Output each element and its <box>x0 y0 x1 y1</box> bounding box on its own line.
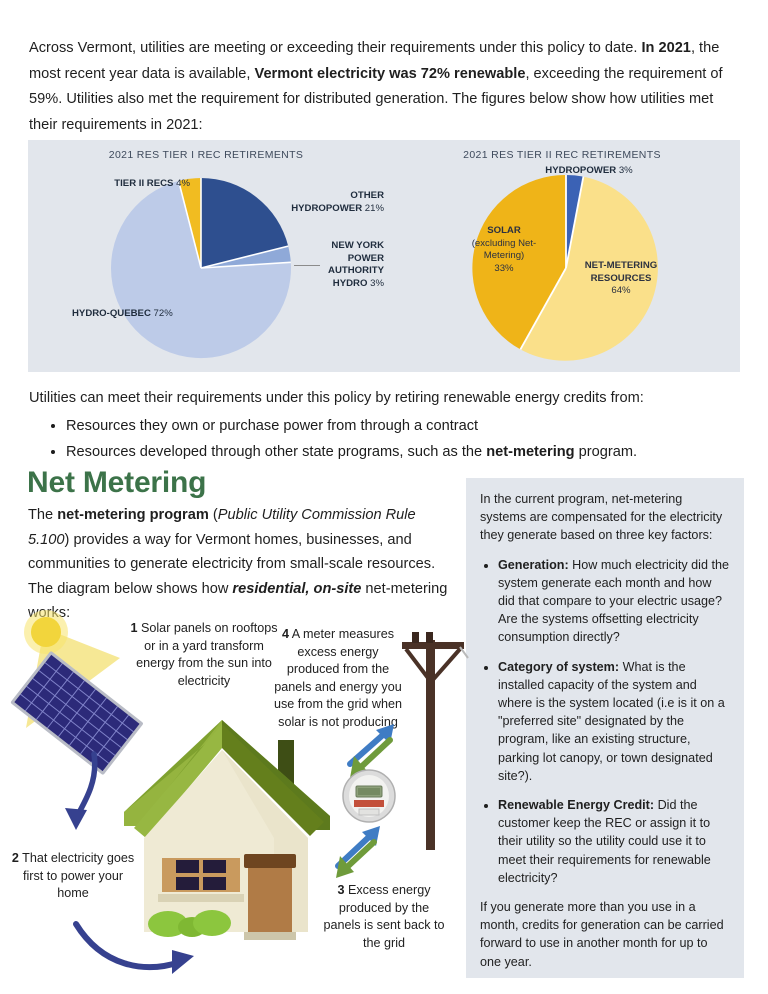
lead-text-a: The <box>28 507 57 523</box>
net-metering-diagram: 1 Solar panels on rooftops or in a yard … <box>0 600 466 994</box>
label-solar-l2: (excluding Net- <box>472 238 537 249</box>
navy-arrow-right-icon <box>72 918 207 988</box>
chart-tier-2-label-hydropower: HYDROPOWER 3% <box>494 165 684 178</box>
label-nm-l3: 64% <box>611 285 630 296</box>
bullet2-text-a: Resources developed through other state … <box>66 444 486 460</box>
callout-4-text: A meter measures excess energy produced … <box>274 627 402 729</box>
label-nm-l1: NET-METERING <box>585 260 658 271</box>
label-nypa-l3: AUTHORITY <box>328 265 384 276</box>
label-nypa-pct: 3% <box>367 278 384 289</box>
chart-tier-2-title: 2021 RES TIER II REC RETIREMENTS <box>384 149 740 161</box>
label-solar-l3: Metering) <box>484 250 525 261</box>
factor-rec-label: Renewable Energy Credit: <box>498 798 654 812</box>
chart-tier-1-label-nypa: NEW YORK POWER AUTHORITY HYDRO 3% <box>244 240 384 290</box>
diagram-callout-1: 1 Solar panels on rooftops or in a yard … <box>130 620 278 690</box>
callout-1-text: Solar panels on rooftops or in a yard tr… <box>136 621 277 688</box>
list-item: Renewable Energy Credit: Did the custome… <box>498 796 730 887</box>
label-nypa-l2: POWER <box>348 253 384 264</box>
navy-arrow-down-icon <box>52 752 122 842</box>
bullet2-bold: net-metering <box>486 444 574 460</box>
intro-text-1: Across Vermont, utilities are meeting or… <box>29 40 641 56</box>
label-other-hydro-l2: HYDROPOWER <box>291 203 362 214</box>
sun-icon <box>31 617 61 647</box>
factor-category-text: What is the installed capacity of the sy… <box>498 660 725 783</box>
utility-pole-illustration <box>398 620 468 870</box>
chart-tier-2-label-net-metering: NET-METERING RESOURCES 64% <box>562 260 680 298</box>
panel-intro-text: In the current program, net-metering sys… <box>480 490 730 545</box>
diagram-callout-2: 2 That electricity goes first to power y… <box>8 850 138 903</box>
label-hydropower-pct: 3% <box>616 165 633 176</box>
label-tier2recs-pct: 4% <box>173 178 190 189</box>
label-tier2recs-name: TIER II RECS <box>114 178 173 189</box>
lead-bold-program: net-metering program <box>57 507 209 523</box>
label-other-hydro-pct: 21% <box>362 203 384 214</box>
bullet2-text-c: program. <box>575 444 637 460</box>
label-nm-l2: RESOURCES <box>591 273 652 284</box>
factor-generation-label: Generation: <box>498 558 569 572</box>
chart-tier-2-label-solar: SOLAR (excluding Net- Metering) 33% <box>456 225 552 275</box>
intro-paragraph: Across Vermont, utilities are meeting or… <box>29 36 741 138</box>
chart-tier-1-label-tier2recs: TIER II RECS 4% <box>58 178 190 191</box>
energy-flow-arrows-lower <box>326 818 392 890</box>
charts-band: 2021 RES TIER I REC RETIREMENTS <box>28 140 740 372</box>
label-nypa-l1: NEW YORK <box>331 240 384 251</box>
label-solar-l1: SOLAR <box>487 225 521 236</box>
list-item: Resources they own or purchase power fro… <box>66 414 742 440</box>
chart-tier-1-label-hydro-quebec: HYDRO-QUEBEC 72% <box>72 308 173 321</box>
label-hq-name: HYDRO-QUEBEC <box>72 308 151 319</box>
key-factors-panel: In the current program, net-metering sys… <box>466 478 744 978</box>
label-hydropower-name: HYDROPOWER <box>545 165 616 176</box>
label-hq-pct: 72% <box>151 308 173 319</box>
chart-tier-2: 2021 RES TIER II REC RETIREMENTS <box>384 140 740 372</box>
lead-text-c: ( <box>209 507 218 523</box>
diagram-callout-3: 3 Excess energy produced by the panels i… <box>322 882 446 952</box>
callout-2-text: That electricity goes first to power you… <box>19 851 134 900</box>
list-item: Category of system: What is the installe… <box>498 658 730 785</box>
requirements-lead-text: Utilities can meet their requirements un… <box>29 386 741 411</box>
list-item: Resources developed through other state … <box>66 440 742 466</box>
factor-category-label: Category of system: <box>498 660 619 674</box>
diagram-callout-4: 4 A meter measures excess energy produce… <box>272 626 404 732</box>
requirements-bullet-list: Resources they own or purchase power fro… <box>42 414 742 465</box>
chart-tier-1-title: 2021 RES TIER I REC RETIREMENTS <box>28 149 384 161</box>
lead-bolditalic-residential: residential, on-site <box>232 581 361 597</box>
intro-bold-renewable: Vermont electricity was 72% renewable <box>255 66 526 82</box>
page-title: Net Metering <box>27 466 206 500</box>
intro-bold-year: In 2021 <box>641 40 691 56</box>
chart-tier-1: 2021 RES TIER I REC RETIREMENTS <box>28 140 384 372</box>
house-illustration <box>118 718 336 948</box>
chart-tier-1-label-other-hydropower: OTHER HYDROPOWER 21% <box>228 190 384 215</box>
key-factors-list: Generation: How much electricity did the… <box>480 556 730 887</box>
callout-4-number: 4 <box>282 627 289 641</box>
electric-meter-icon <box>340 768 398 824</box>
label-other-hydro-l1: OTHER <box>350 190 384 201</box>
label-nypa-l4: HYDRO <box>333 278 368 289</box>
list-item: Generation: How much electricity did the… <box>498 556 730 647</box>
label-solar-l4: 33% <box>494 263 513 274</box>
callout-2-number: 2 <box>12 851 19 865</box>
panel-outro-text: If you generate more than you use in a m… <box>480 898 730 971</box>
